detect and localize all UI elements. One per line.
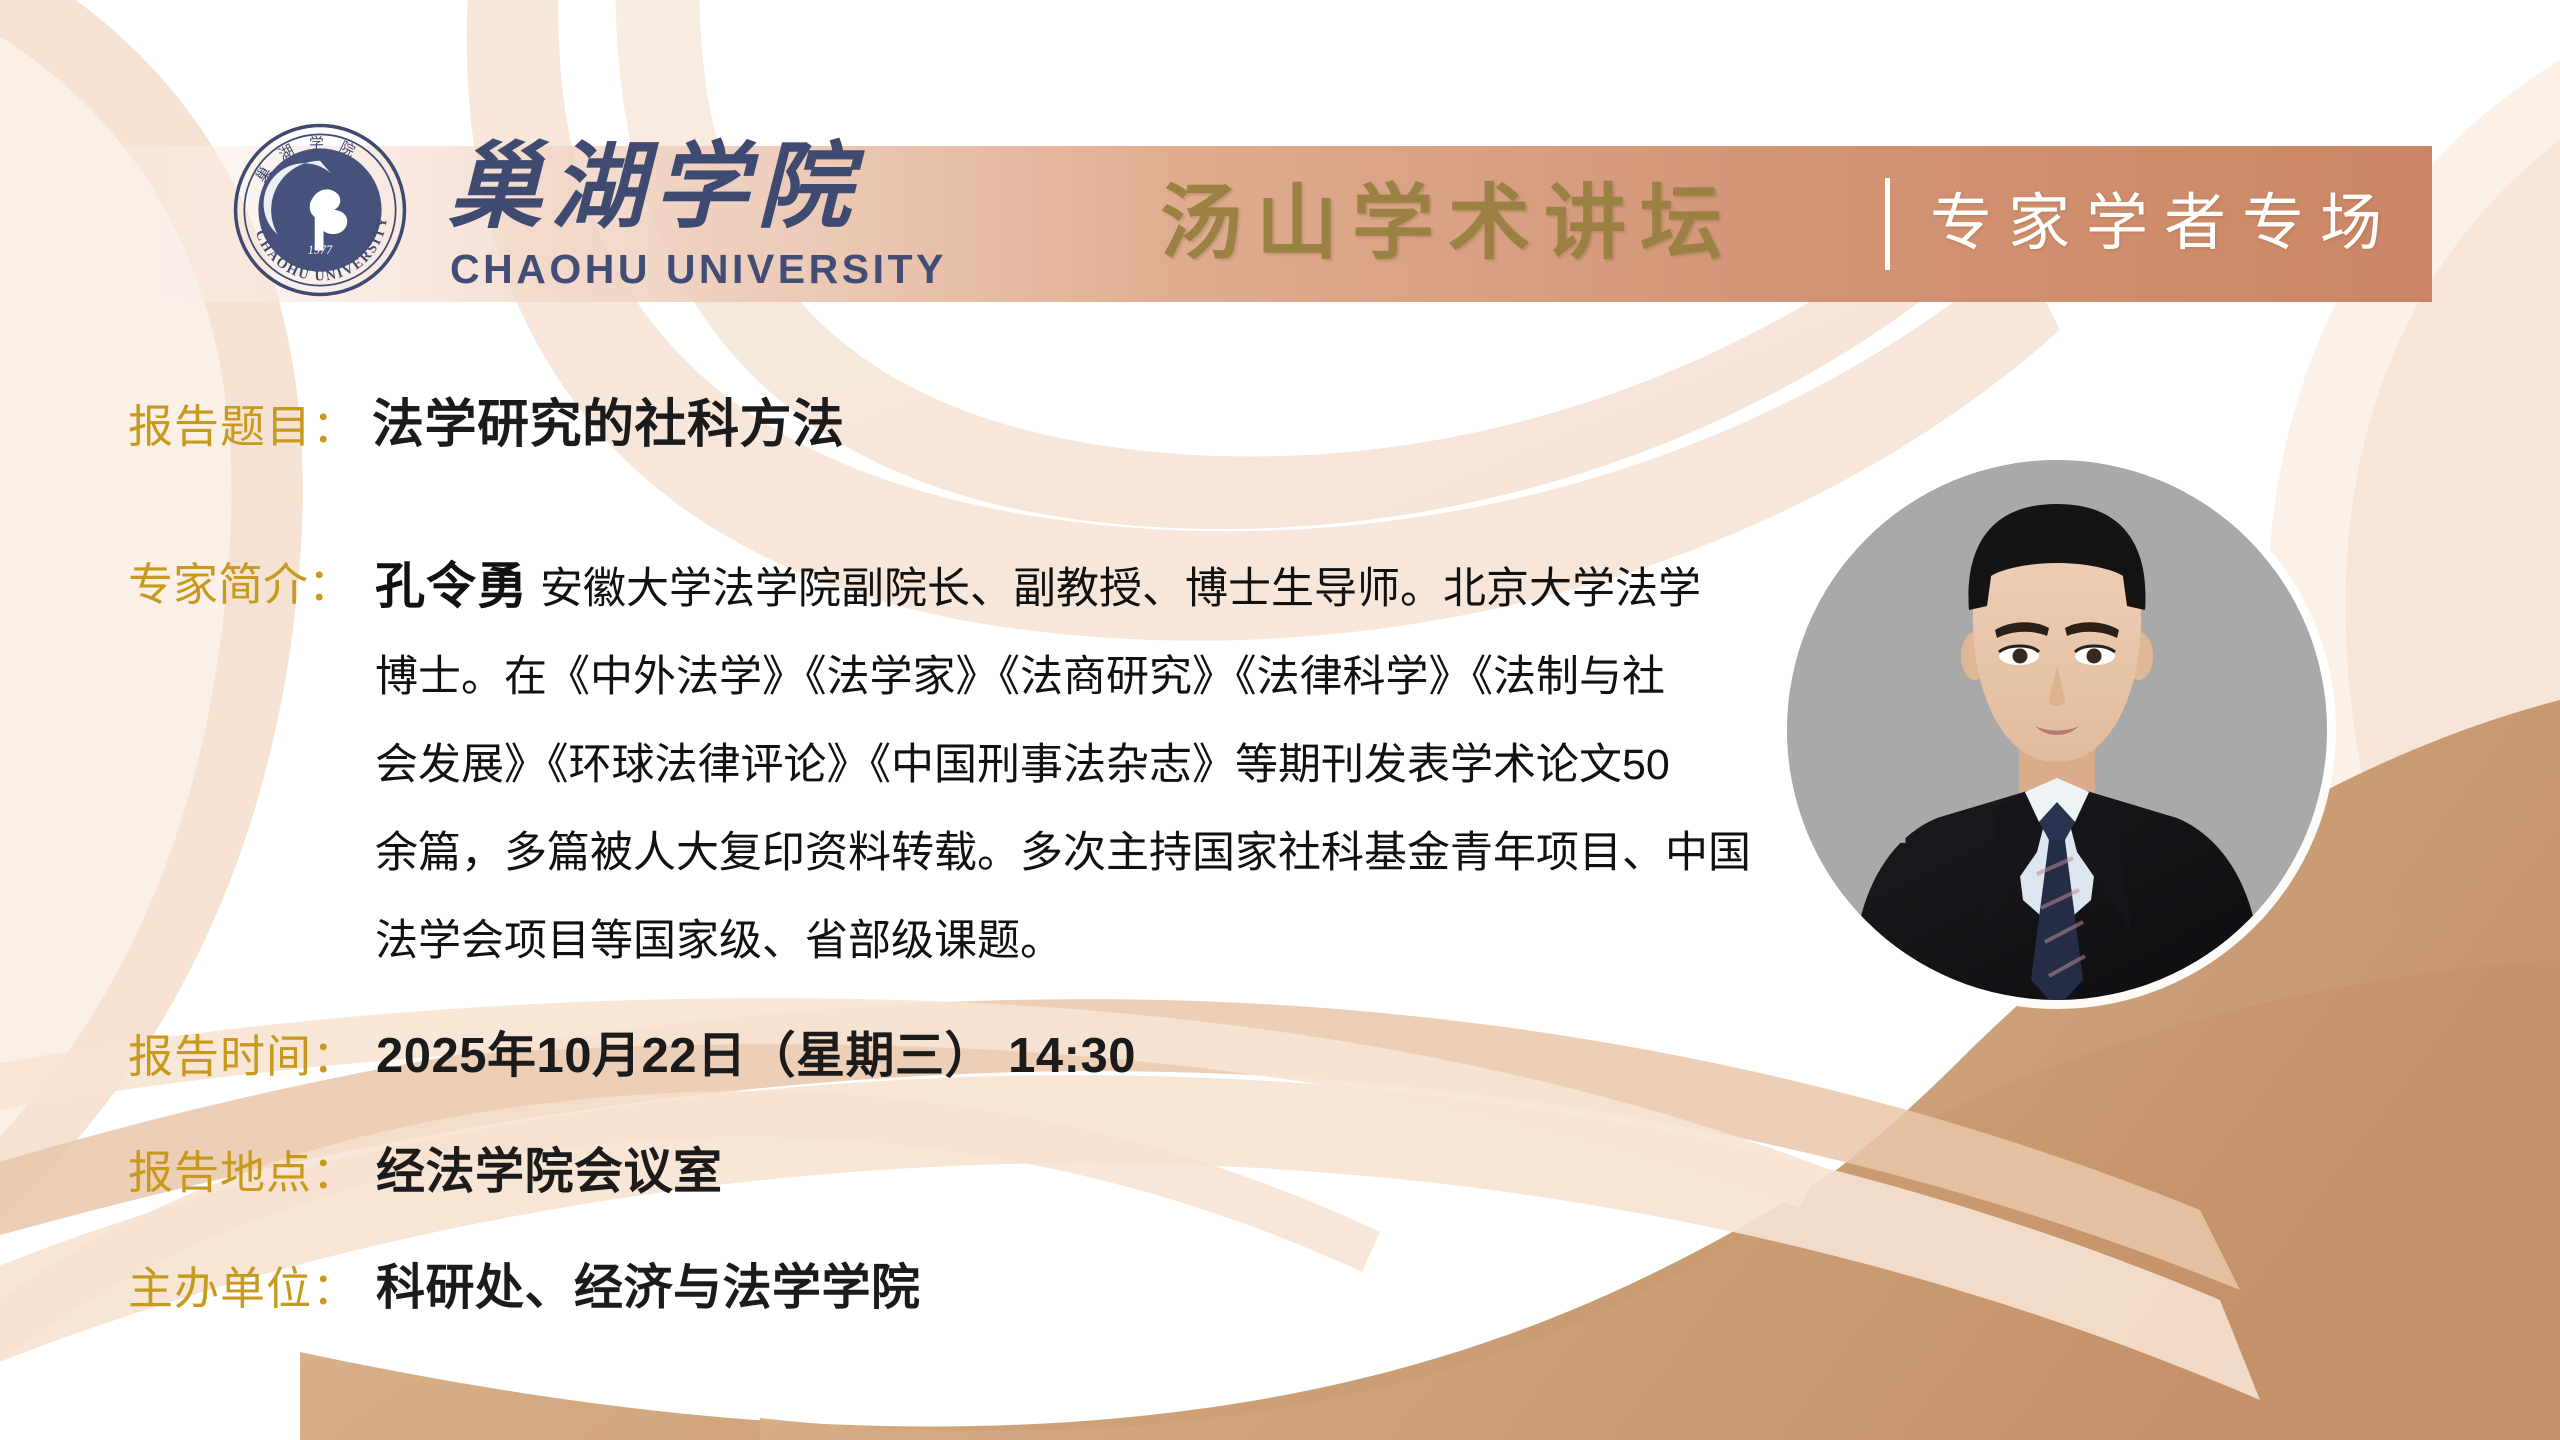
decor-mid-wave-pale <box>0 1075 2260 1400</box>
forum-divider <box>1885 178 1890 270</box>
speaker-portrait <box>1787 460 2327 1000</box>
bio-line: 孔令勇安徽大学法学院副院长、副教授、博士生导师。北京大学法学 <box>375 542 1805 633</box>
university-name-cn: 巢湖学院 <box>448 136 918 240</box>
report-title-value: 法学研究的社科方法 <box>372 382 845 457</box>
forum-title: 汤山学术讲坛 <box>1160 160 1736 288</box>
bio-line: 会发展》《环球法律评论》《中国刑事法杂志》等期刊发表学术论文50 <box>375 721 1805 809</box>
report-host-value: 科研处、经济与法学学院 <box>376 1248 921 1319</box>
speaker-bio-label: 专家简介： <box>128 548 353 613</box>
report-title-label: 报告题目： <box>128 390 358 455</box>
report-title-row: 报告题目： 法学研究的社科方法 <box>128 382 845 457</box>
poster-canvas: 1977 巢 湖 学 院 CHAOHU UNIVERSITY 巢湖学院 CHAO… <box>0 0 2560 1440</box>
report-place-value: 经法学院会议室 <box>376 1132 723 1203</box>
seal-year: 1977 <box>308 243 333 257</box>
report-host-row: 主办单位： 科研处、经济与法学学院 <box>128 1248 921 1319</box>
report-place-label: 报告地点： <box>128 1136 358 1201</box>
report-place-row: 报告地点： 经法学院会议室 <box>128 1132 723 1203</box>
speaker-bio-body: 孔令勇安徽大学法学院副院长、副教授、博士生导师。北京大学法学 博士。在《中外法学… <box>375 542 1805 985</box>
bio-text-1: 安徽大学法学院副院长、副教授、博士生导师。北京大学法学 <box>540 565 1701 613</box>
chaohu-university-seal-icon: 1977 巢 湖 学 院 CHAOHU UNIVERSITY <box>232 122 408 298</box>
bio-line: 余篇，多篇被人大复印资料转载。多次主持国家社科基金青年项目、中国 <box>375 809 1805 897</box>
report-host-label: 主办单位： <box>128 1252 358 1317</box>
bio-line: 博士。在《中外法学》《法学家》《法商研究》《法律科学》《法制与社 <box>375 633 1805 721</box>
speaker-name: 孔令勇 <box>375 558 528 614</box>
bio-line: 法学会项目等国家级、省部级课题。 <box>375 897 1805 985</box>
report-time-label: 报告时间： <box>128 1020 358 1085</box>
report-time-value: 2025年10月22日（星期三） 14:30 <box>376 1016 1136 1087</box>
forum-subtitle: 专家学者专场 <box>1930 172 2398 276</box>
university-name-en: CHAOHU UNIVERSITY <box>450 246 947 293</box>
report-time-row: 报告时间： 2025年10月22日（星期三） 14:30 <box>128 1016 1136 1087</box>
university-wordmark: 巢湖学院 CHAOHU UNIVERSITY <box>448 136 918 296</box>
